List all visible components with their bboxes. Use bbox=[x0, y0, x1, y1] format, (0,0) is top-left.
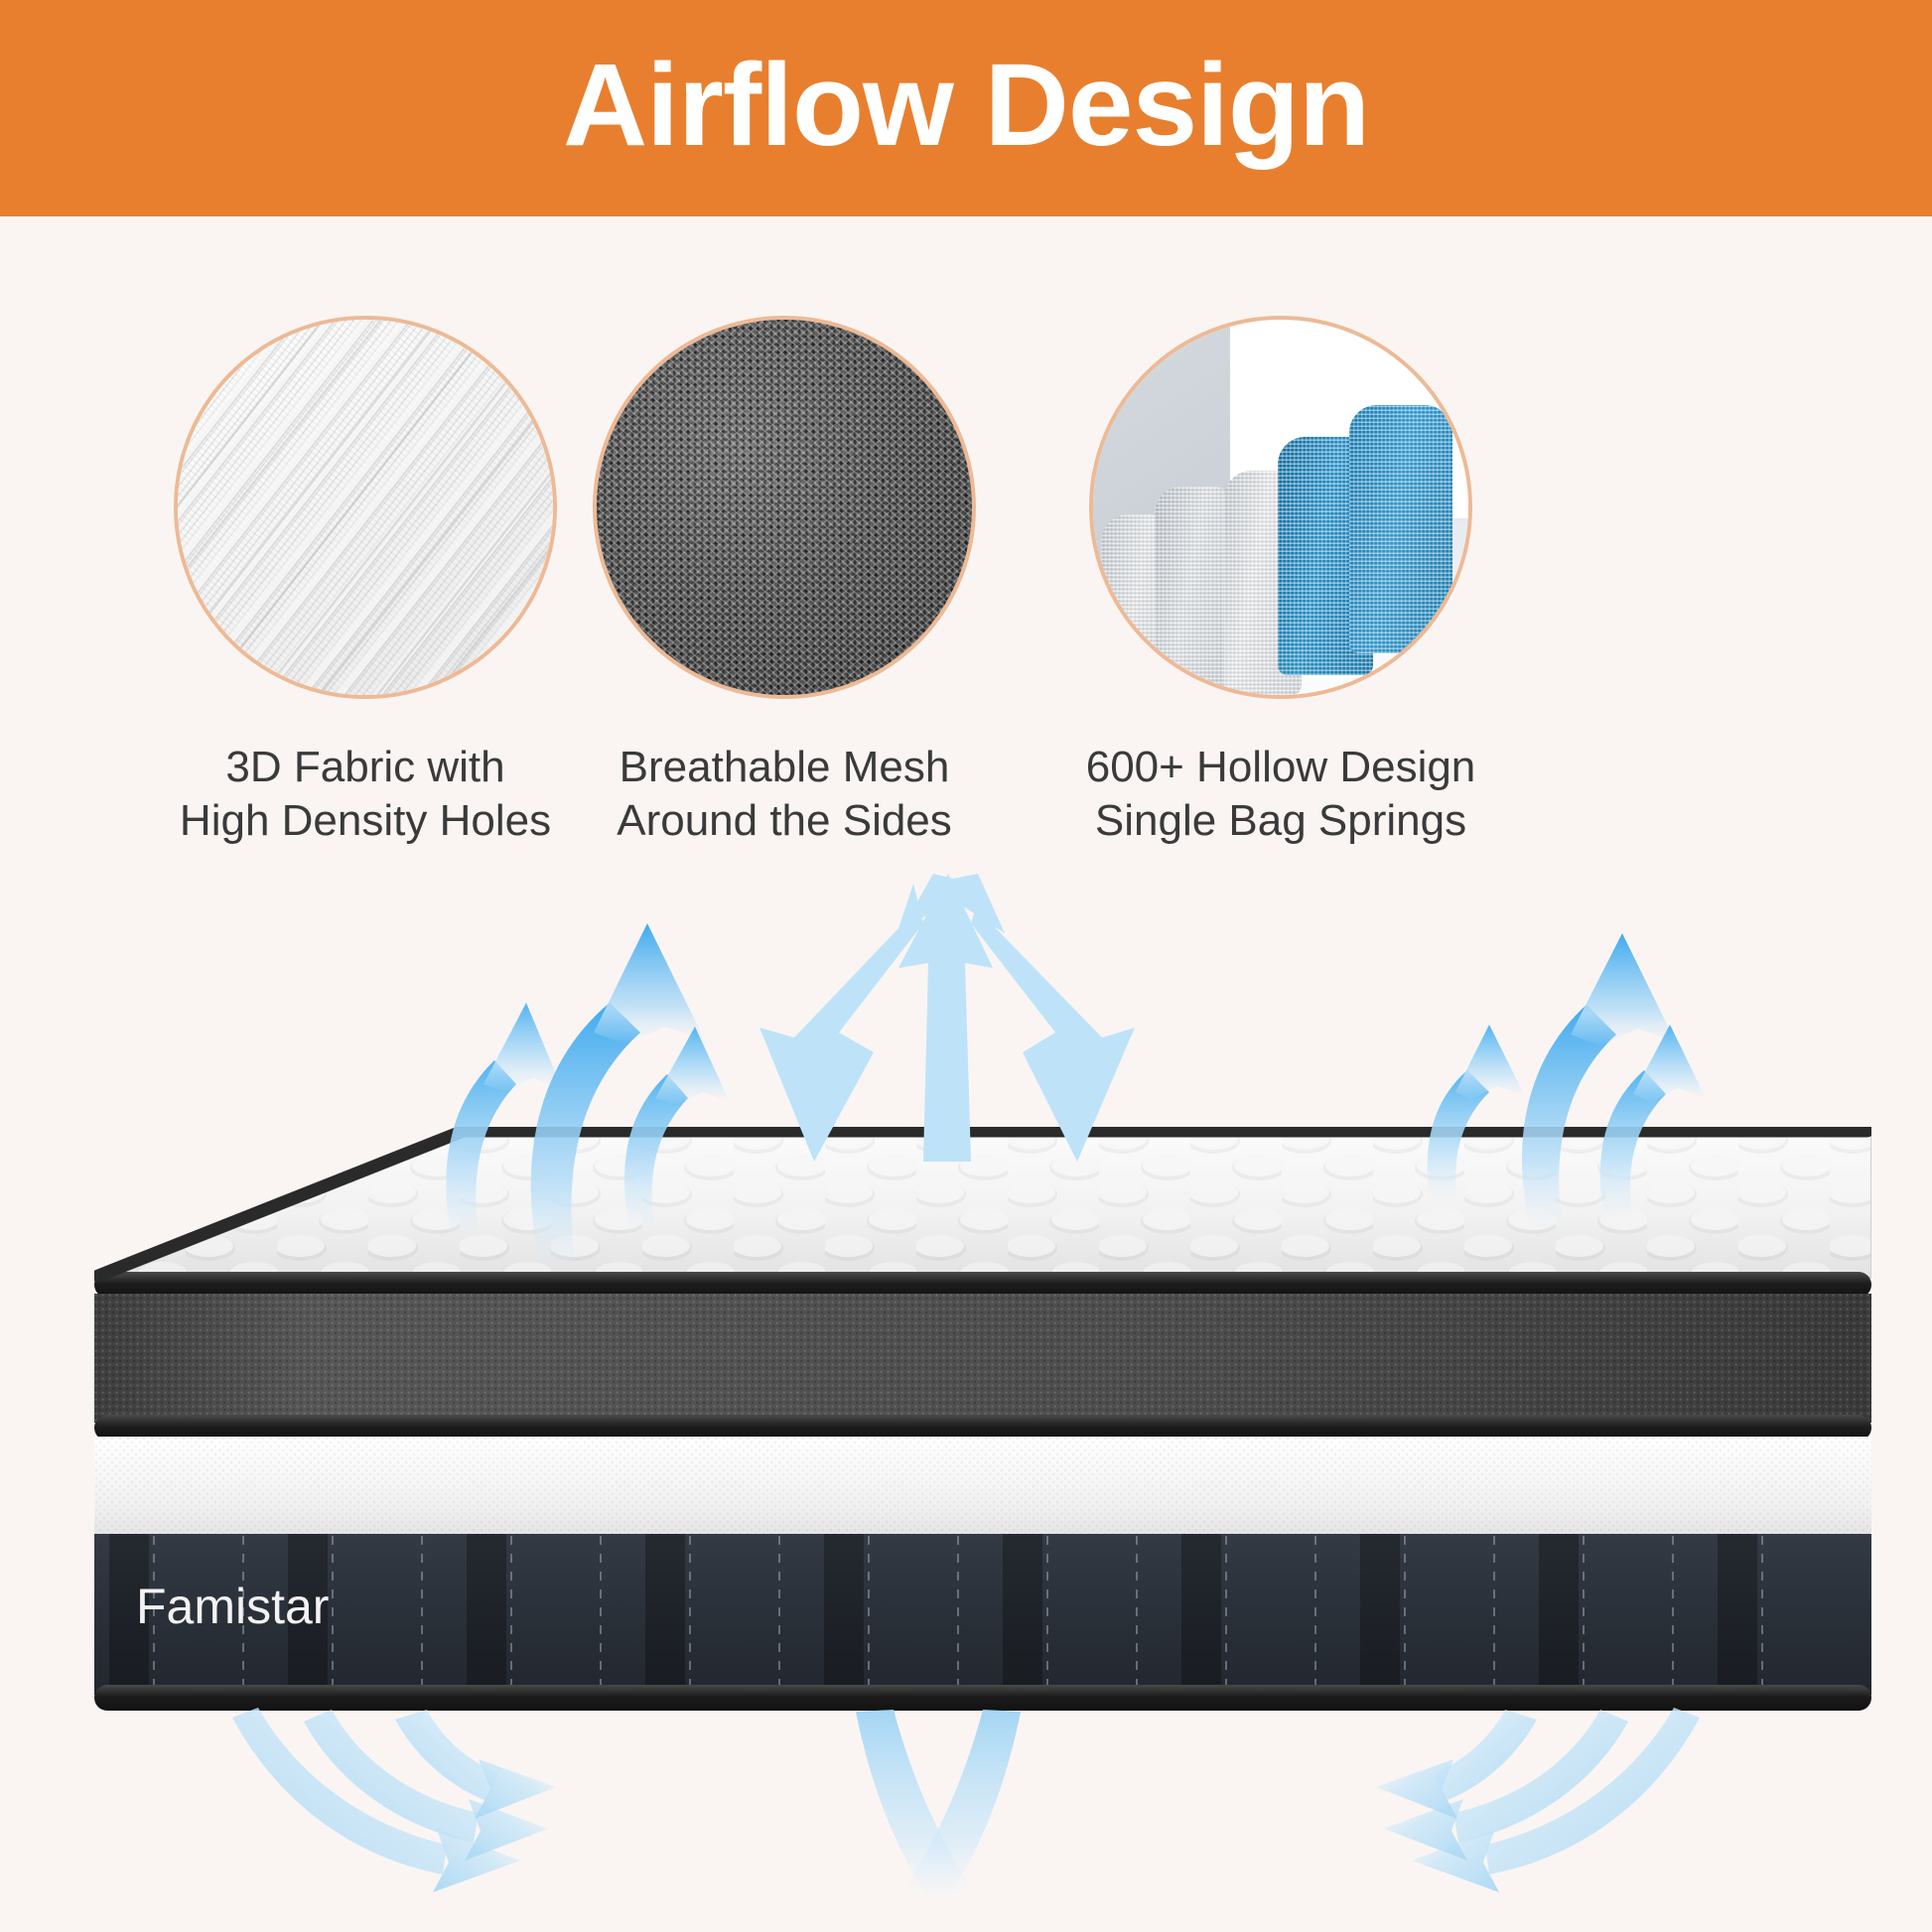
mattress-top-face bbox=[94, 1133, 1871, 1278]
spring-mesh-texture bbox=[1349, 405, 1452, 653]
brand-logo-text: Famistar bbox=[136, 1579, 329, 1634]
feature-caption-breathable-mesh: Breathable Mesh Around the Sides bbox=[536, 741, 1033, 847]
airflow-arrow-center-left bbox=[759, 884, 923, 1162]
spring-bag-blue-2 bbox=[1349, 405, 1452, 653]
page-title: Airflow Design bbox=[563, 47, 1369, 164]
mattress-base bbox=[94, 1534, 1871, 1695]
mattress-piping-bottom bbox=[94, 1685, 1871, 1711]
header-banner: Airflow Design bbox=[0, 0, 1932, 216]
feature-item-breathable-mesh: Breathable Mesh Around the Sides bbox=[536, 316, 1033, 847]
airflow-arrows-bottom-right bbox=[1376, 1708, 1700, 1892]
feature-image-breathable-mesh bbox=[593, 316, 976, 699]
airflow-center-burst bbox=[759, 874, 1135, 1162]
airflow-stream-center-b bbox=[903, 1710, 1021, 1902]
dark-mesh-texture bbox=[597, 320, 972, 695]
airflow-arrow-bottom-left-1 bbox=[232, 1708, 520, 1892]
feature-caption-pocket-springs: 600+ Hollow Design Single Bag Springs bbox=[1033, 741, 1529, 847]
airflow-arrow-bottom-right-2 bbox=[1384, 1710, 1628, 1861]
feature-row: 3D Fabric with High Density Holes Breath… bbox=[0, 316, 1932, 812]
feature-item-pocket-springs: 600+ Hollow Design Single Bag Springs bbox=[1033, 316, 1529, 847]
pocket-springs-scene bbox=[1093, 320, 1468, 695]
feature-image-pocket-springs bbox=[1089, 316, 1472, 699]
airflow-arrow-bottom-right-3 bbox=[1376, 1710, 1537, 1819]
airflow-arrow-center-right bbox=[971, 884, 1135, 1162]
airflow-stream-center-a bbox=[856, 1710, 973, 1902]
mattress-white-band bbox=[94, 1437, 1871, 1536]
airflow-arrow-bottom-right-1 bbox=[1412, 1708, 1700, 1892]
mattress-mesh-band bbox=[94, 1294, 1871, 1423]
mattress-illustration: Famistar bbox=[94, 1127, 1871, 1723]
feature-image-fabric-3d bbox=[174, 316, 557, 699]
airflow-arrow-bottom-left-2 bbox=[304, 1710, 548, 1861]
infographic-page: Airflow Design 3D Fabric with High Densi… bbox=[0, 0, 1932, 1932]
airflow-arrow-center-wings bbox=[899, 874, 1005, 933]
airflow-arrows-bottom-center bbox=[856, 1710, 1021, 1902]
airflow-arrows-bottom-left bbox=[232, 1708, 556, 1892]
airflow-arrow-bottom-left-3 bbox=[395, 1710, 556, 1819]
quilted-fabric-texture bbox=[178, 320, 553, 695]
airflow-arrow-center-middle bbox=[898, 874, 993, 1162]
